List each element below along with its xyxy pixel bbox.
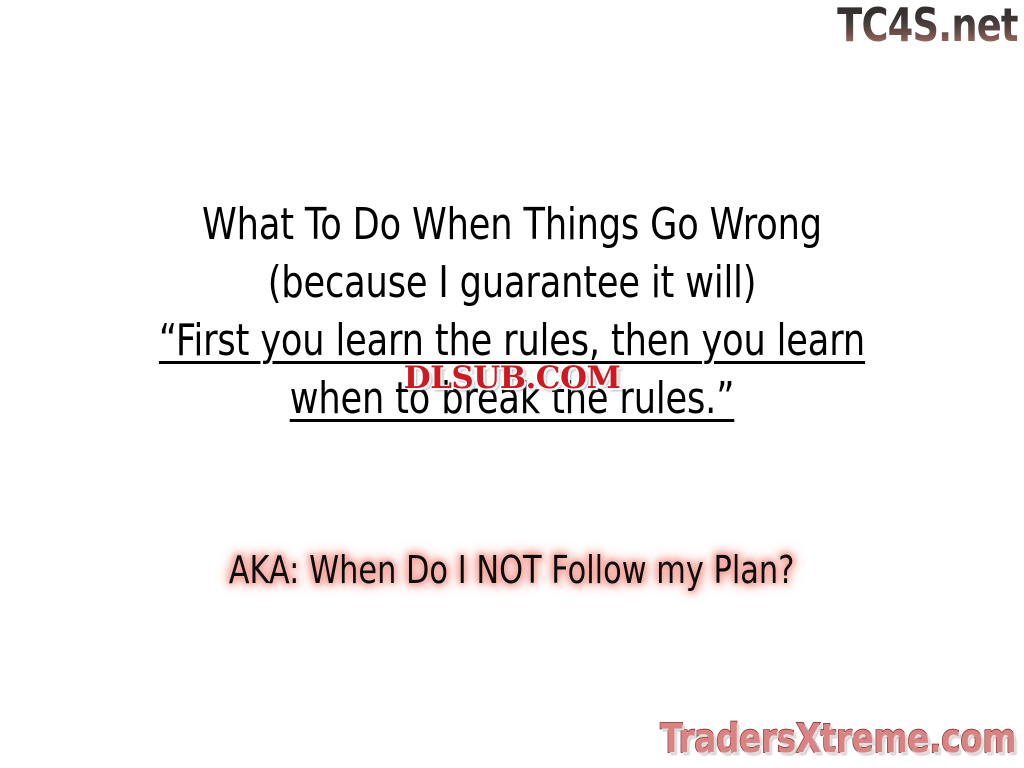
subtitle-aka-line: AKA: When Do I NOT Follow my Plan? [0, 546, 1024, 594]
presentation-slide: TC4S.net What To Do When Things Go Wrong… [0, 0, 1024, 768]
dlsub-watermark: DLSUB.COM [404, 363, 621, 394]
title-line-1: What To Do When Things Go Wrong [102, 196, 921, 254]
tradersxtreme-logo-text: TradersXtreme.com [660, 716, 1016, 762]
title-line-2: (because I guarantee it will) [102, 254, 921, 312]
tradersxtreme-logo: TradersXtreme.com [660, 718, 1016, 760]
subtitle-aka-text: AKA: When Do I NOT Follow my Plan? [229, 546, 795, 594]
tc4s-logo: TC4S.net [837, 2, 1018, 48]
